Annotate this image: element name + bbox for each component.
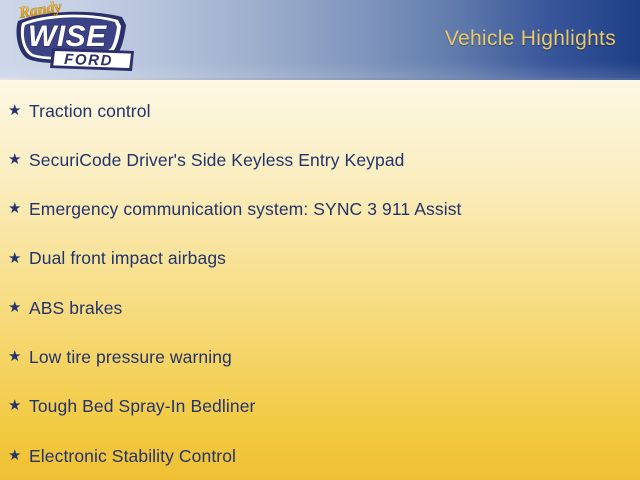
star-icon: ★ <box>8 152 29 167</box>
list-item: ★ Emergency communication system: SYNC 3… <box>0 185 640 234</box>
list-item-label: Traction control <box>29 101 640 121</box>
svg-text:FORD: FORD <box>64 51 113 70</box>
star-icon: ★ <box>8 300 29 315</box>
list-item: ★ Tough Bed Spray-In Bedliner <box>0 382 640 431</box>
vehicle-highlights-list: ★ Traction control ★ SecuriCode Driver's… <box>0 86 640 480</box>
list-item-label: Low tire pressure warning <box>29 347 640 367</box>
header-divider <box>0 78 640 80</box>
list-item: ★ Low tire pressure warning <box>0 332 640 381</box>
list-item: ★ SecuriCode Driver's Side Keyless Entry… <box>0 135 640 184</box>
list-item: ★ Electronic Stability Control <box>0 431 640 480</box>
star-icon: ★ <box>8 251 29 266</box>
list-item: ★ Dual front impact airbags <box>0 234 640 283</box>
list-item-label: SecuriCode Driver's Side Keyless Entry K… <box>29 150 640 170</box>
list-item: ★ Traction control <box>0 86 640 135</box>
list-item-label: ABS brakes <box>29 298 640 318</box>
list-item-label: Electronic Stability Control <box>29 446 640 466</box>
list-item-label: Emergency communication system: SYNC 3 9… <box>29 199 640 219</box>
svg-text:WISE: WISE <box>28 20 107 53</box>
list-item: ★ ABS brakes <box>0 283 640 332</box>
star-icon: ★ <box>8 349 29 364</box>
star-icon: ★ <box>8 448 29 463</box>
randy-wise-ford-logo: WISE Randy FORD <box>6 1 136 78</box>
star-icon: ★ <box>8 201 29 216</box>
vehicle-highlights-slide: WISE Randy FORD Vehicle Highlights ★ Tra… <box>0 0 640 480</box>
list-item-label: Tough Bed Spray-In Bedliner <box>29 396 640 416</box>
page-title: Vehicle Highlights <box>445 27 616 51</box>
list-item-label: Dual front impact airbags <box>29 248 640 268</box>
header-bar: WISE Randy FORD Vehicle Highlights <box>0 0 640 78</box>
star-icon: ★ <box>8 103 29 118</box>
star-icon: ★ <box>8 398 29 413</box>
